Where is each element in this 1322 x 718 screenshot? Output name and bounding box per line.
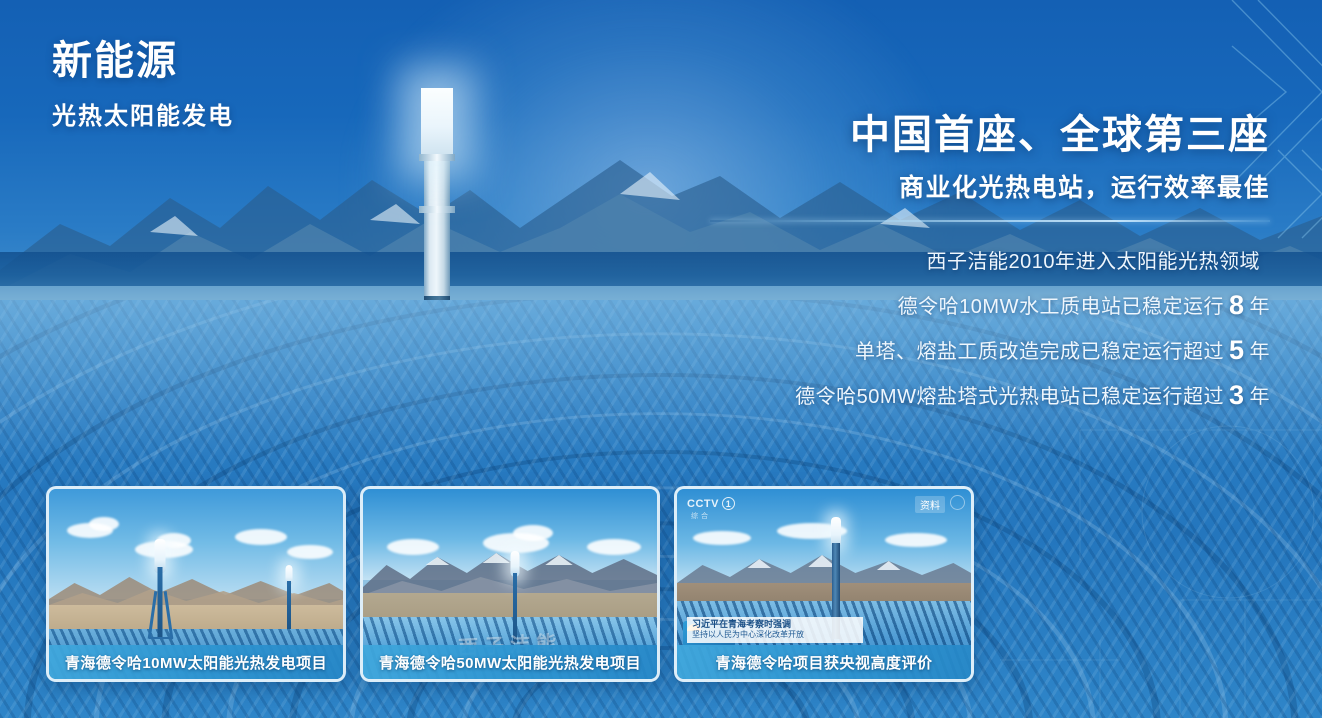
cctv-text: CCTV bbox=[687, 498, 719, 510]
news-ticker: 习近平在青海考察时强调 坚持以人民为中心深化改革开放 bbox=[687, 617, 863, 643]
fact-unit: 年 bbox=[1250, 341, 1271, 363]
section-divider bbox=[710, 220, 1270, 222]
fact-text: 西子洁能2010年进入太阳能光热领域 bbox=[927, 251, 1261, 273]
left-title-block: 新能源 光热太阳能发电 bbox=[52, 28, 234, 131]
cctv-logo-icon: CCTV 1 bbox=[687, 497, 735, 510]
thumbnail-50mw[interactable]: 西子洁能 青海德令哈50MW太阳能光热发电项目 bbox=[360, 486, 660, 682]
cctv-channel-sub: 综合 bbox=[691, 511, 711, 521]
fact-unit: 年 bbox=[1250, 296, 1271, 318]
cctv-channel-number: 1 bbox=[722, 497, 735, 510]
page-title: 新能源 bbox=[52, 28, 234, 86]
thumbnail-caption: 青海德令哈50MW太阳能光热发电项目 bbox=[363, 645, 657, 679]
thumbnail-gallery: 青海德令哈10MW太阳能光热发电项目 bbox=[46, 486, 974, 682]
slide-root: 新能源 光热太阳能发电 中国首座、全球第三座 商业化光热电站，运行效率最佳 西子… bbox=[0, 0, 1322, 718]
lattice-tower bbox=[145, 517, 175, 637]
thumbnail-caption: 青海德令哈项目获央视高度评价 bbox=[677, 645, 971, 679]
cctv-ring-icon bbox=[950, 495, 965, 510]
lattice-tower-secondary bbox=[281, 565, 297, 629]
ticker-headline: 习近平在青海考察时强调 bbox=[692, 619, 858, 630]
fact-text: 单塔、熔盐工质改造完成已稳定运行超过 bbox=[855, 341, 1224, 363]
thumbnail-caption: 青海德令哈10MW太阳能光热发电项目 bbox=[49, 645, 343, 679]
fact-item: 单塔、熔盐工质改造完成已稳定运行超过5年 bbox=[610, 328, 1270, 373]
fact-text: 德令哈10MW水工质电站已稳定运行 bbox=[898, 296, 1224, 318]
headline: 中国首座、全球第三座 bbox=[610, 112, 1270, 158]
fact-item: 西子洁能2010年进入太阳能光热领域 bbox=[610, 238, 1270, 283]
fact-number: 5 bbox=[1224, 335, 1250, 365]
thumbnail-cctv-news[interactable]: CCTV 1 综合 资料 习近平在青海考察时强调 坚持以人民为中心深化改革开放 … bbox=[674, 486, 974, 682]
thumbnail-10mw[interactable]: 青海德令哈10MW太阳能光热发电项目 bbox=[46, 486, 346, 682]
fact-unit: 年 bbox=[1250, 386, 1271, 408]
right-content-block: 中国首座、全球第三座 商业化光热电站，运行效率最佳 西子洁能2010年进入太阳能… bbox=[610, 112, 1270, 418]
fact-item: 德令哈50MW熔盐塔式光热电站已稳定运行超过3年 bbox=[610, 373, 1270, 418]
fact-number: 3 bbox=[1224, 380, 1250, 410]
fact-number: 8 bbox=[1224, 290, 1250, 320]
fact-list: 西子洁能2010年进入太阳能光热领域 德令哈10MW水工质电站已稳定运行8年 单… bbox=[610, 238, 1270, 418]
fact-text: 德令哈50MW熔盐塔式光热电站已稳定运行超过 bbox=[795, 386, 1224, 408]
archive-badge: 资料 bbox=[915, 496, 945, 513]
subheadline: 商业化光热电站，运行效率最佳 bbox=[610, 168, 1270, 204]
fact-number bbox=[1260, 245, 1270, 275]
page-subtitle: 光热太阳能发电 bbox=[52, 96, 234, 131]
fact-item: 德令哈10MW水工质电站已稳定运行8年 bbox=[610, 283, 1270, 328]
ticker-subline: 坚持以人民为中心深化改革开放 bbox=[692, 630, 858, 640]
